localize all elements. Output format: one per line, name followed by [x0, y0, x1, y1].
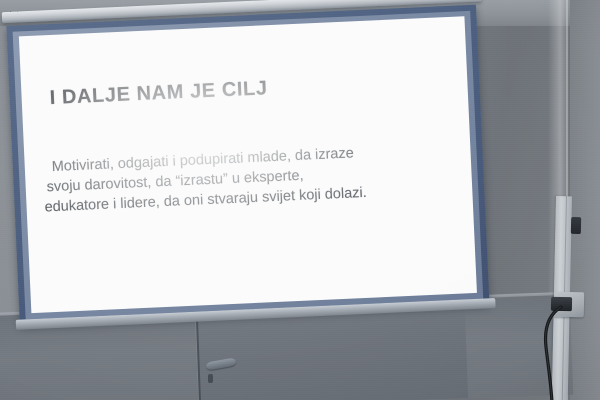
slide-title: I DALJE NAM JE CILJ: [49, 77, 268, 110]
presentation-slide: I DALJE NAM JE CILJ Motivirati, odgajati…: [19, 16, 477, 313]
projector-screen-surface: I DALJE NAM JE CILJ Motivirati, odgajati…: [19, 16, 477, 313]
projector-screen-assembly: I DALJE NAM JE CILJ Motivirati, odgajati…: [6, 0, 489, 326]
slide-body-text: Motivirati, odgajati i podupirati mlade,…: [42, 139, 454, 218]
power-cable: [536, 303, 596, 400]
power-cable-path: [536, 303, 596, 400]
cable-clip: [571, 217, 581, 234]
door[interactable]: [195, 308, 468, 400]
projector-screen-frame: I DALJE NAM JE CILJ Motivirati, odgajati…: [6, 5, 489, 326]
door-lock-keyhole[interactable]: [208, 374, 213, 383]
room-photo-scene: I DALJE NAM JE CILJ Motivirati, odgajati…: [0, 0, 600, 400]
